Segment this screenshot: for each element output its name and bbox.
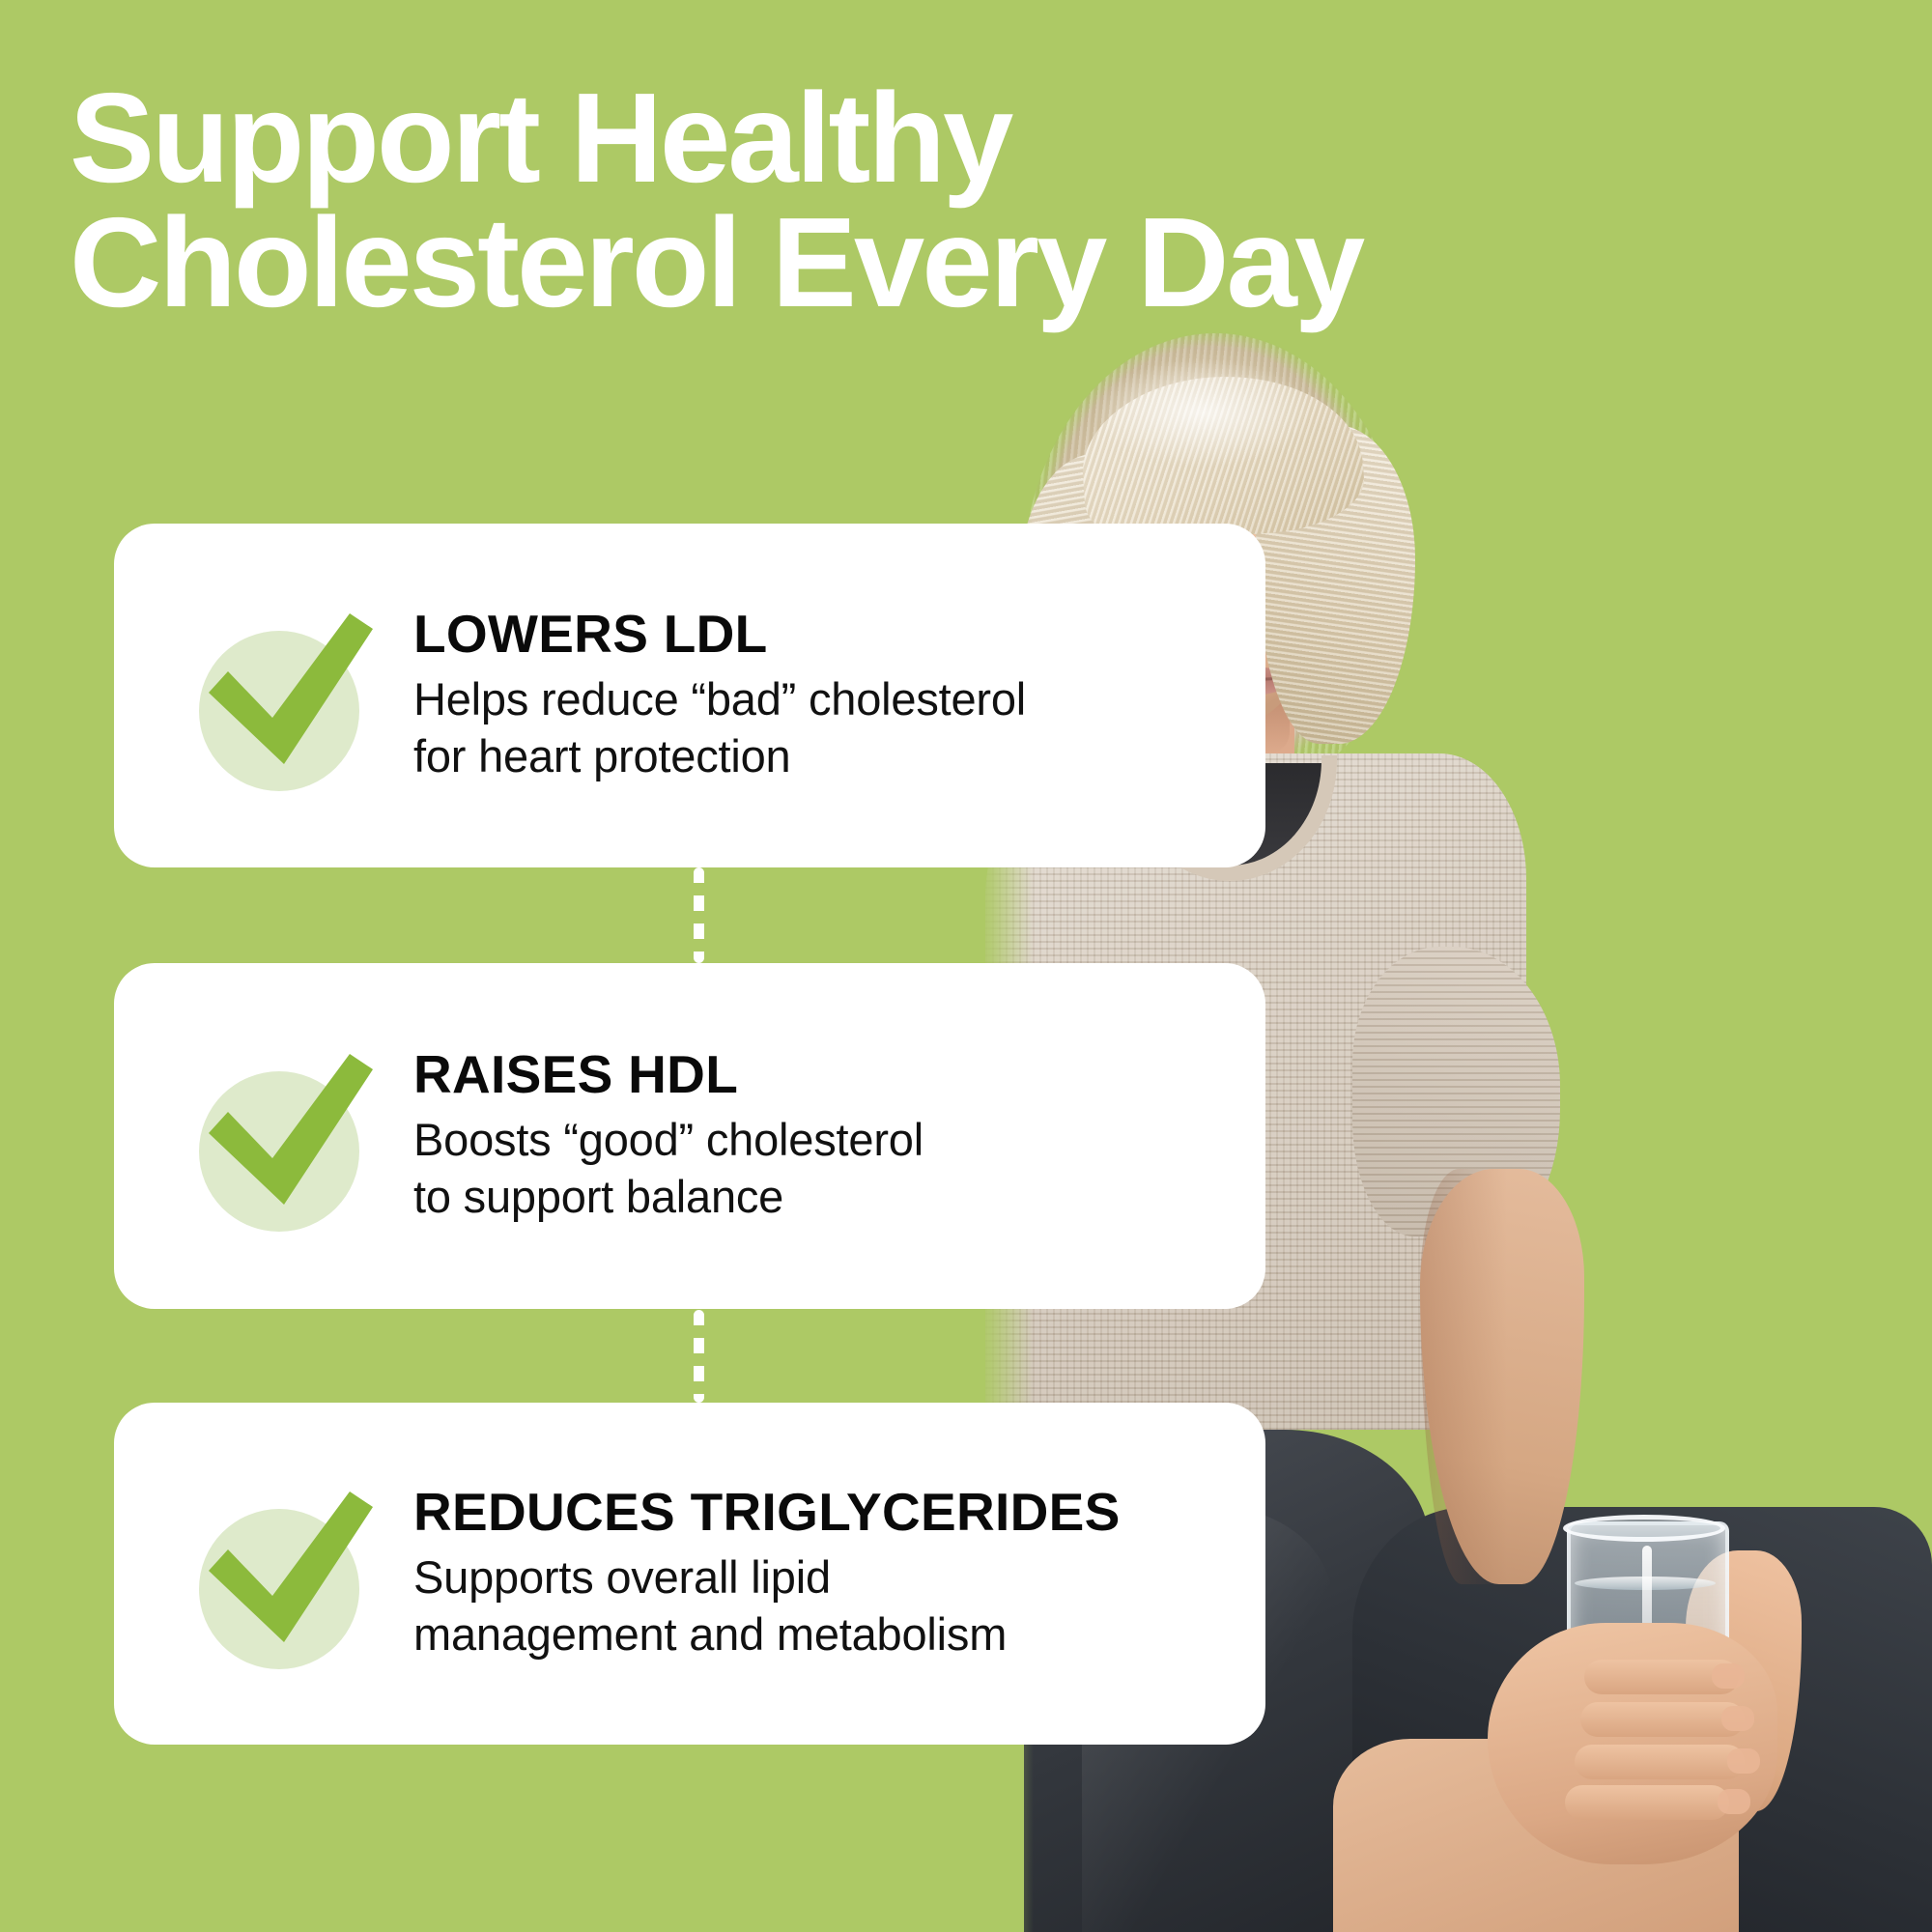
- check-glyph: [158, 1453, 400, 1694]
- benefit-card-text: REDUCES TRIGLYCERIDES Supports overall l…: [413, 1485, 1121, 1662]
- check-glyph: [158, 1015, 400, 1257]
- benefit-card-text: LOWERS LDL Helps reduce “bad” cholestero…: [413, 607, 1026, 784]
- check-glyph: [158, 575, 400, 816]
- benefit-body: Helps reduce “bad” cholesterol for heart…: [413, 670, 1026, 784]
- benefit-body: Boosts “good” cholesterol to support bal…: [413, 1111, 923, 1225]
- benefit-body: Supports overall lipid management and me…: [413, 1548, 1121, 1662]
- check-mark-icon: [158, 1453, 400, 1694]
- check-mark-icon: [158, 1015, 400, 1257]
- benefit-heading: LOWERS LDL: [413, 607, 1026, 663]
- benefit-card-raises-hdl[interactable]: RAISES HDL Boosts “good” cholesterol to …: [114, 963, 1265, 1309]
- benefit-heading: RAISES HDL: [413, 1047, 923, 1103]
- check-mark-icon: [158, 575, 400, 816]
- benefit-card-text: RAISES HDL Boosts “good” cholesterol to …: [413, 1047, 923, 1225]
- poster-canvas: Support Healthy Cholesterol Every Day LO…: [0, 0, 1932, 1932]
- benefit-card-lowers-ldl[interactable]: LOWERS LDL Helps reduce “bad” cholestero…: [114, 524, 1265, 867]
- benefit-card-list: LOWERS LDL Helps reduce “bad” cholestero…: [0, 0, 1932, 1932]
- benefit-heading: REDUCES TRIGLYCERIDES: [413, 1485, 1121, 1541]
- benefit-card-reduces-triglycerides[interactable]: REDUCES TRIGLYCERIDES Supports overall l…: [114, 1403, 1265, 1745]
